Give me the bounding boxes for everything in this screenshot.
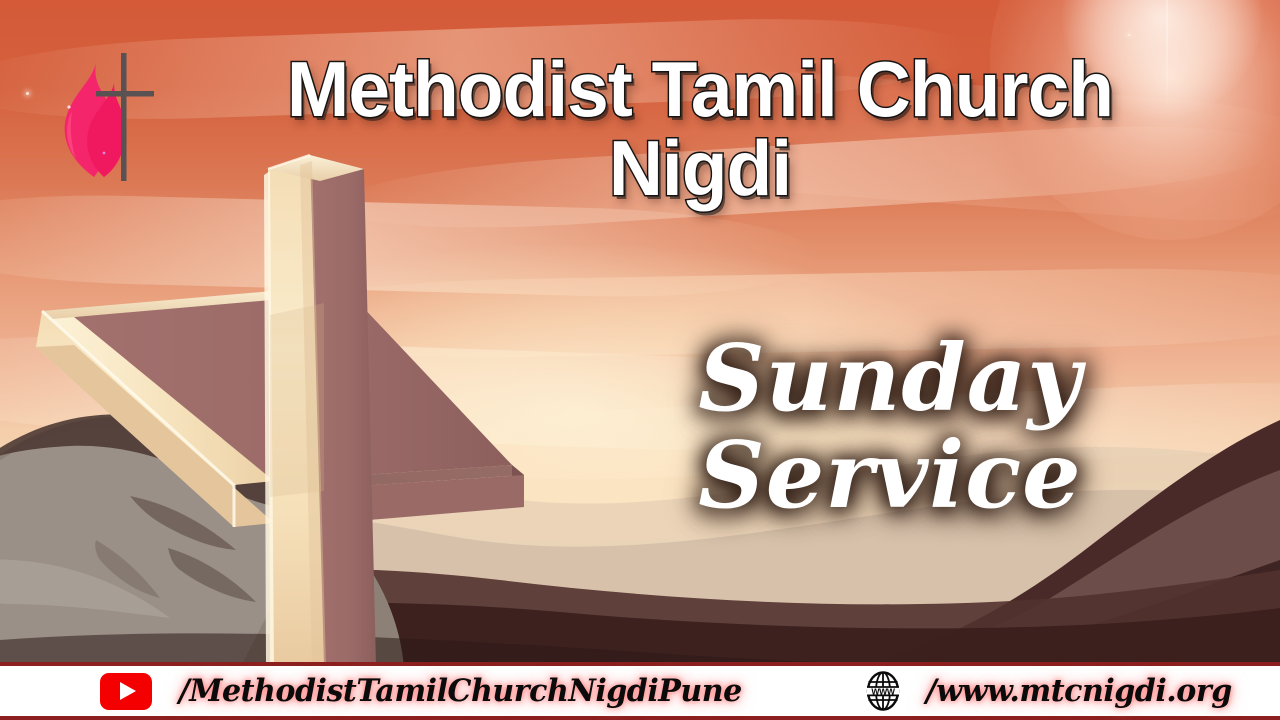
youtube-handle: /MethodistTamilChurchNigdiPune bbox=[179, 673, 742, 709]
service-label: Sunday Service bbox=[560, 330, 1220, 523]
service-label-wrap: Sunday Service bbox=[560, 330, 1220, 523]
youtube-link[interactable]: /MethodistTamilChurchNigdiPune bbox=[100, 673, 751, 710]
youtube-icon[interactable] bbox=[100, 673, 152, 710]
svg-text:WWW: WWW bbox=[871, 687, 895, 697]
play-triangle-icon bbox=[120, 682, 136, 700]
website-url: /www.mtcnigdi.org bbox=[925, 673, 1231, 709]
website-link[interactable]: WWW /www.mtcnigdi.org bbox=[863, 670, 1236, 712]
sunday-service-banner: Methodist Tamil Church Nigdi Sunday Serv… bbox=[0, 0, 1280, 720]
www-globe-icon[interactable]: WWW bbox=[863, 670, 903, 712]
footer-bar: /MethodistTamilChurchNigdiPune WWW /www.… bbox=[0, 662, 1280, 720]
methodist-cross-and-flame-logo bbox=[52, 45, 170, 185]
